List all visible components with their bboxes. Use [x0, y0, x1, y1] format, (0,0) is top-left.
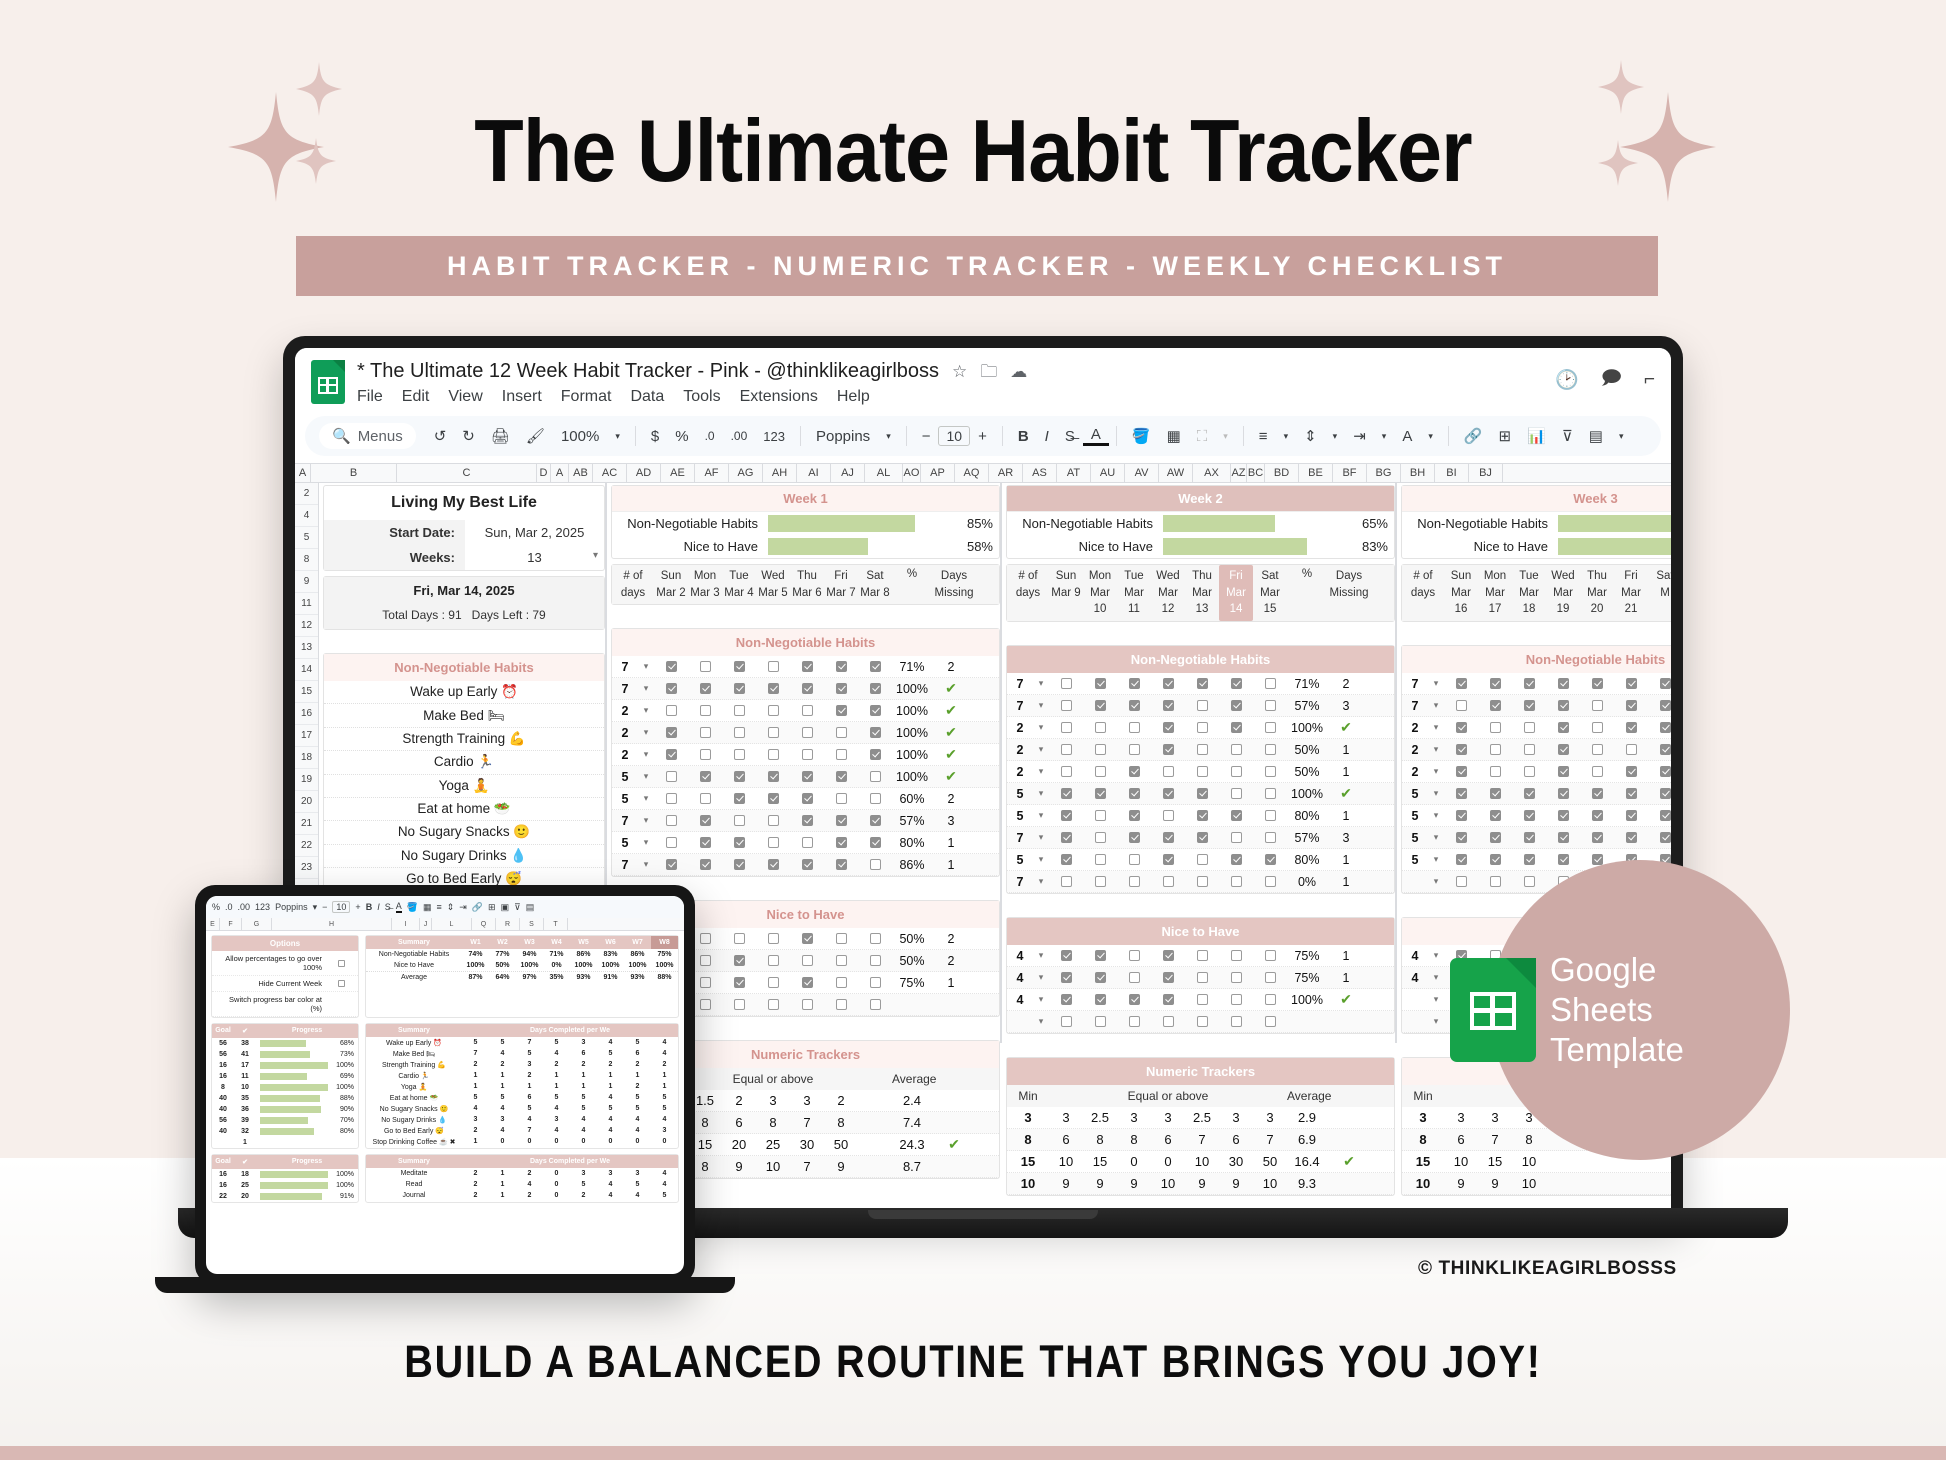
- habit-checkbox[interactable]: [1163, 854, 1174, 865]
- habit-checkbox[interactable]: [768, 815, 779, 826]
- chevron-down-icon[interactable]: ▾: [1033, 994, 1049, 1005]
- column-header-as[interactable]: AS: [1023, 464, 1057, 482]
- habit-checkbox[interactable]: [1061, 854, 1072, 865]
- numeric-value[interactable]: 9: [1219, 1176, 1253, 1191]
- goal-days-value[interactable]: 5: [1402, 853, 1428, 867]
- numeric-value[interactable]: 7: [1478, 1132, 1512, 1147]
- column-header-bi[interactable]: BI: [1435, 464, 1469, 482]
- present-icon[interactable]: ⌐: [1644, 369, 1655, 391]
- habit-checkbox[interactable]: [1197, 854, 1208, 865]
- row-header-14[interactable]: 14: [295, 659, 318, 681]
- habit-checkbox[interactable]: [1231, 854, 1242, 865]
- habit-checkbox[interactable]: [1129, 722, 1140, 733]
- functions-icon[interactable]: ▤: [526, 902, 535, 913]
- habit-checkbox[interactable]: [1095, 832, 1106, 843]
- habit-checkbox[interactable]: [1231, 876, 1242, 887]
- habit-checkbox[interactable]: [802, 793, 813, 804]
- column-header-d[interactable]: D: [537, 464, 551, 482]
- habit-checkbox[interactable]: [1095, 1016, 1106, 1027]
- column-header-bj[interactable]: BJ: [1469, 464, 1503, 482]
- menu-view[interactable]: View: [448, 388, 482, 406]
- habit-checkbox[interactable]: [1660, 810, 1671, 821]
- goal-days-value[interactable]: 7: [612, 682, 638, 696]
- habit-checkbox[interactable]: [1524, 678, 1535, 689]
- habit-checkbox[interactable]: [1197, 832, 1208, 843]
- habit-checkbox[interactable]: [700, 933, 711, 944]
- habit-checkbox[interactable]: [1163, 722, 1174, 733]
- numeric-value[interactable]: 8: [1117, 1132, 1151, 1147]
- habit-checkbox[interactable]: [1197, 810, 1208, 821]
- numeric-value[interactable]: 15: [1083, 1154, 1117, 1169]
- goal-days-value[interactable]: 7: [1007, 677, 1033, 691]
- habit-checkbox[interactable]: [836, 933, 847, 944]
- habit-checkbox[interactable]: [836, 793, 847, 804]
- habit-checkbox[interactable]: [870, 999, 881, 1010]
- option-checkbox[interactable]: [338, 960, 345, 967]
- text-wrap-icon[interactable]: ⇥: [459, 902, 467, 913]
- chevron-down-icon[interactable]: ▾: [1033, 722, 1049, 733]
- goal-days-value[interactable]: 5: [612, 770, 638, 784]
- comment-icon[interactable]: 🗩: [1601, 364, 1622, 396]
- habit-checkbox[interactable]: [870, 859, 881, 870]
- chevron-down-icon[interactable]: ▾: [1428, 1016, 1444, 1027]
- goal-days-value[interactable]: 5: [1007, 853, 1033, 867]
- habit-checkbox[interactable]: [1660, 744, 1671, 755]
- habit-checkbox[interactable]: [802, 815, 813, 826]
- numeric-value[interactable]: 10: [1049, 1154, 1083, 1169]
- habit-checkbox[interactable]: [1524, 788, 1535, 799]
- column-header-bh[interactable]: BH: [1401, 464, 1435, 482]
- decrease-decimal-icon[interactable]: .0: [697, 429, 723, 443]
- habit-checkbox[interactable]: [802, 749, 813, 760]
- habit-checkbox[interactable]: [870, 793, 881, 804]
- font-family-select[interactable]: Poppins: [808, 428, 878, 445]
- habit-checkbox[interactable]: [1490, 810, 1501, 821]
- chevron-down-icon[interactable]: ▾: [1033, 950, 1049, 961]
- goal-days-value[interactable]: 7: [1007, 875, 1033, 889]
- column-header-b[interactable]: B: [311, 464, 397, 482]
- vertical-align-icon[interactable]: ⇕: [447, 902, 455, 913]
- habit-checkbox[interactable]: [768, 933, 779, 944]
- chevron-down-icon[interactable]: ▾: [1611, 431, 1632, 442]
- numeric-value[interactable]: 9: [1478, 1176, 1512, 1191]
- habit-checkbox[interactable]: [666, 705, 677, 716]
- habit-checkbox[interactable]: [1163, 744, 1174, 755]
- font-size-input[interactable]: 10: [938, 426, 970, 446]
- bold-icon[interactable]: B: [366, 902, 373, 912]
- habit-checkbox[interactable]: [836, 859, 847, 870]
- row-header-2[interactable]: 2: [295, 483, 318, 505]
- habit-checkbox[interactable]: [666, 771, 677, 782]
- habit-checkbox[interactable]: [870, 749, 881, 760]
- chevron-down-icon[interactable]: ▾: [593, 550, 598, 561]
- habit-checkbox[interactable]: [700, 837, 711, 848]
- habit-checkbox[interactable]: [1129, 1016, 1140, 1027]
- chevron-down-icon[interactable]: ▾: [638, 683, 654, 694]
- habit-checkbox[interactable]: [1163, 972, 1174, 983]
- column-header-ao[interactable]: AO: [903, 464, 921, 482]
- habit-checkbox[interactable]: [836, 661, 847, 672]
- chevron-down-icon[interactable]: ▾: [1033, 832, 1049, 843]
- habit-checkbox[interactable]: [1163, 700, 1174, 711]
- column-header-ah[interactable]: AH: [763, 464, 797, 482]
- chevron-down-icon[interactable]: ▾: [607, 431, 628, 442]
- column-header-ai[interactable]: AI: [797, 464, 831, 482]
- habit-checkbox[interactable]: [1558, 722, 1569, 733]
- column-header-ap[interactable]: AP: [921, 464, 955, 482]
- habit-checkbox[interactable]: [734, 933, 745, 944]
- habit-checkbox[interactable]: [700, 727, 711, 738]
- column-header-a[interactable]: A: [295, 464, 311, 482]
- habit-checkbox[interactable]: [870, 977, 881, 988]
- habit-checkbox[interactable]: [700, 771, 711, 782]
- goal-days-value[interactable]: 5: [1402, 809, 1428, 823]
- habit-checkbox[interactable]: [802, 999, 813, 1010]
- habit-checkbox[interactable]: [1129, 678, 1140, 689]
- column-headers[interactable]: ABCDAABACADAEAFAGAHAIAJALAOAPAQARASATAUA…: [295, 463, 1671, 483]
- habit-checkbox[interactable]: [666, 661, 677, 672]
- numeric-value[interactable]: 30: [790, 1137, 824, 1152]
- habit-checkbox[interactable]: [1558, 788, 1569, 799]
- column-header-av[interactable]: AV: [1125, 464, 1159, 482]
- column-header-c[interactable]: C: [397, 464, 537, 482]
- habit-checkbox[interactable]: [1490, 854, 1501, 865]
- goal-days-value[interactable]: 7: [612, 814, 638, 828]
- insert-chart-icon[interactable]: ▣: [501, 902, 510, 913]
- habit-checkbox[interactable]: [1129, 832, 1140, 843]
- habit-checkbox[interactable]: [870, 661, 881, 672]
- font-family-select[interactable]: Poppins: [275, 902, 308, 912]
- paint-format-icon[interactable]: 🖌: [518, 427, 553, 445]
- tablet-column-header-h[interactable]: H: [272, 918, 392, 930]
- menu-help[interactable]: Help: [837, 388, 870, 406]
- habit-checkbox[interactable]: [802, 683, 813, 694]
- habit-checkbox[interactable]: [734, 815, 745, 826]
- habit-checkbox[interactable]: [870, 705, 881, 716]
- column-header-ac[interactable]: AC: [593, 464, 627, 482]
- goal-days-value[interactable]: 5: [1402, 787, 1428, 801]
- habit-checkbox[interactable]: [1660, 700, 1671, 711]
- habit-name[interactable]: Yoga 🧘: [324, 775, 604, 798]
- habit-checkbox[interactable]: [700, 793, 711, 804]
- habit-checkbox[interactable]: [1265, 810, 1276, 821]
- habit-checkbox[interactable]: [768, 999, 779, 1010]
- menu-data[interactable]: Data: [630, 388, 664, 406]
- chevron-down-icon[interactable]: ▾: [313, 902, 318, 913]
- habit-checkbox[interactable]: [1592, 810, 1603, 821]
- habit-checkbox[interactable]: [666, 859, 677, 870]
- borders-icon[interactable]: ▦: [1159, 427, 1189, 445]
- min-value[interactable]: 10: [1007, 1176, 1049, 1191]
- min-value[interactable]: 15: [1007, 1154, 1049, 1169]
- habit-checkbox[interactable]: [1163, 678, 1174, 689]
- chevron-down-icon[interactable]: ▾: [1033, 1016, 1049, 1027]
- habit-checkbox[interactable]: [1558, 700, 1569, 711]
- insert-chart-icon[interactable]: 📊: [1519, 427, 1554, 445]
- chevron-down-icon[interactable]: ▾: [1428, 722, 1444, 733]
- numeric-value[interactable]: 3: [1253, 1110, 1287, 1125]
- habit-checkbox[interactable]: [768, 793, 779, 804]
- habit-checkbox[interactable]: [1626, 832, 1637, 843]
- undo-icon[interactable]: ↺: [426, 427, 455, 445]
- numeric-value[interactable]: 8: [1083, 1132, 1117, 1147]
- numeric-value[interactable]: 8: [824, 1115, 858, 1130]
- habit-checkbox[interactable]: [768, 977, 779, 988]
- habit-checkbox[interactable]: [802, 859, 813, 870]
- habit-checkbox[interactable]: [836, 815, 847, 826]
- habit-checkbox[interactable]: [1197, 876, 1208, 887]
- habit-checkbox[interactable]: [768, 727, 779, 738]
- habit-checkbox[interactable]: [1558, 832, 1569, 843]
- habit-checkbox[interactable]: [1095, 788, 1106, 799]
- chevron-down-icon[interactable]: ▾: [1325, 431, 1346, 442]
- menu-file[interactable]: File: [357, 388, 383, 406]
- habit-name[interactable]: Eat at home 🥗: [324, 798, 604, 821]
- numeric-value[interactable]: 50: [1253, 1154, 1287, 1169]
- chevron-down-icon[interactable]: ▾: [1033, 788, 1049, 799]
- numeric-value[interactable]: 7: [790, 1159, 824, 1174]
- habit-checkbox[interactable]: [734, 859, 745, 870]
- habit-checkbox[interactable]: [1061, 744, 1072, 755]
- habit-checkbox[interactable]: [1558, 766, 1569, 777]
- habit-checkbox[interactable]: [666, 837, 677, 848]
- increase-decimal-icon[interactable]: .00: [238, 902, 251, 912]
- habit-checkbox[interactable]: [1660, 788, 1671, 799]
- habit-checkbox[interactable]: [666, 727, 677, 738]
- min-value[interactable]: 3: [1007, 1110, 1049, 1125]
- habit-checkbox[interactable]: [1197, 678, 1208, 689]
- habit-checkbox[interactable]: [1061, 972, 1072, 983]
- habit-checkbox[interactable]: [836, 977, 847, 988]
- goal-days-value[interactable]: 7: [1402, 677, 1428, 691]
- habit-checkbox[interactable]: [1061, 722, 1072, 733]
- habit-checkbox[interactable]: [1592, 744, 1603, 755]
- row-header-17[interactable]: 17: [295, 725, 318, 747]
- habit-checkbox[interactable]: [1558, 854, 1569, 865]
- habit-checkbox[interactable]: [1129, 810, 1140, 821]
- habit-checkbox[interactable]: [1524, 744, 1535, 755]
- habit-checkbox[interactable]: [1197, 766, 1208, 777]
- habit-checkbox[interactable]: [1061, 1016, 1072, 1027]
- habit-checkbox[interactable]: [1592, 854, 1603, 865]
- habit-checkbox[interactable]: [1163, 876, 1174, 887]
- chevron-down-icon[interactable]: ▾: [1374, 431, 1395, 442]
- habit-checkbox[interactable]: [1061, 810, 1072, 821]
- row-header-21[interactable]: 21: [295, 813, 318, 835]
- habit-checkbox[interactable]: [734, 749, 745, 760]
- weeks-select[interactable]: 13▾: [465, 545, 604, 570]
- habit-checkbox[interactable]: [734, 837, 745, 848]
- habit-checkbox[interactable]: [1524, 876, 1535, 887]
- row-header-13[interactable]: 13: [295, 637, 318, 659]
- percent-icon[interactable]: %: [667, 428, 696, 445]
- habit-checkbox[interactable]: [1660, 766, 1671, 777]
- habit-checkbox[interactable]: [700, 683, 711, 694]
- habit-checkbox[interactable]: [1265, 994, 1276, 1005]
- borders-icon[interactable]: ▦: [423, 902, 432, 913]
- column-header-au[interactable]: AU: [1091, 464, 1125, 482]
- habit-checkbox[interactable]: [1095, 744, 1106, 755]
- habit-checkbox[interactable]: [1456, 678, 1467, 689]
- menu-tools[interactable]: Tools: [683, 388, 720, 406]
- habit-checkbox[interactable]: [1197, 744, 1208, 755]
- goal-days-value[interactable]: 4: [1007, 949, 1033, 963]
- habit-checkbox[interactable]: [1231, 810, 1242, 821]
- habit-checkbox[interactable]: [734, 727, 745, 738]
- habit-checkbox[interactable]: [1061, 700, 1072, 711]
- habit-checkbox[interactable]: [1095, 678, 1106, 689]
- numeric-value[interactable]: 3: [1049, 1110, 1083, 1125]
- habit-checkbox[interactable]: [870, 933, 881, 944]
- habit-checkbox[interactable]: [1490, 766, 1501, 777]
- habit-checkbox[interactable]: [1061, 950, 1072, 961]
- habit-checkbox[interactable]: [734, 705, 745, 716]
- chevron-down-icon[interactable]: ▾: [1215, 431, 1236, 442]
- habit-name[interactable]: Make Bed 🛏: [324, 704, 604, 727]
- horizontal-align-icon[interactable]: ≡: [1251, 428, 1276, 445]
- habit-checkbox[interactable]: [1095, 950, 1106, 961]
- habit-checkbox[interactable]: [700, 749, 711, 760]
- habit-checkbox[interactable]: [1265, 950, 1276, 961]
- more-formats-icon[interactable]: 123: [755, 429, 793, 444]
- habit-checkbox[interactable]: [1231, 832, 1242, 843]
- habit-checkbox[interactable]: [802, 705, 813, 716]
- goal-days-value[interactable]: 2: [1007, 743, 1033, 757]
- text-color-icon[interactable]: A: [1083, 426, 1109, 446]
- numeric-value[interactable]: 7: [790, 1115, 824, 1130]
- habit-checkbox[interactable]: [1061, 678, 1072, 689]
- habit-checkbox[interactable]: [768, 749, 779, 760]
- goal-days-value[interactable]: 7: [1402, 699, 1428, 713]
- numeric-value[interactable]: 3: [1219, 1110, 1253, 1125]
- chevron-down-icon[interactable]: ▾: [1428, 832, 1444, 843]
- numeric-value[interactable]: 10: [1185, 1154, 1219, 1169]
- habit-checkbox[interactable]: [1660, 832, 1671, 843]
- habit-checkbox[interactable]: [700, 859, 711, 870]
- habit-checkbox[interactable]: [1095, 700, 1106, 711]
- goal-days-value[interactable]: 7: [612, 660, 638, 674]
- chevron-down-icon[interactable]: ▾: [1428, 876, 1444, 887]
- habit-checkbox[interactable]: [836, 771, 847, 782]
- menu-insert[interactable]: Insert: [502, 388, 542, 406]
- strikethrough-icon[interactable]: S̶: [1057, 428, 1083, 445]
- numeric-value[interactable]: 9: [1444, 1176, 1478, 1191]
- numeric-value[interactable]: 15: [1478, 1154, 1512, 1169]
- print-icon[interactable]: 🖨: [483, 427, 518, 445]
- numeric-value[interactable]: 9: [1185, 1176, 1219, 1191]
- habit-checkbox[interactable]: [768, 837, 779, 848]
- increase-font-size-button[interactable]: +: [970, 428, 995, 445]
- habit-checkbox[interactable]: [1129, 788, 1140, 799]
- habit-checkbox[interactable]: [734, 771, 745, 782]
- numeric-value[interactable]: 9: [1117, 1176, 1151, 1191]
- merge-cells-icon[interactable]: ⛶: [1189, 428, 1216, 445]
- chevron-down-icon[interactable]: ▾: [638, 661, 654, 672]
- goal-days-value[interactable]: 5: [1007, 809, 1033, 823]
- numeric-value[interactable]: 25: [756, 1137, 790, 1152]
- insert-comment-icon[interactable]: ⊞: [488, 902, 496, 913]
- habit-checkbox[interactable]: [700, 661, 711, 672]
- habit-checkbox[interactable]: [1456, 788, 1467, 799]
- tablet-column-header-j[interactable]: J: [420, 918, 432, 930]
- insert-comment-icon[interactable]: ⊞: [1491, 427, 1520, 445]
- habit-checkbox[interactable]: [1524, 810, 1535, 821]
- chevron-down-icon[interactable]: ▾: [1033, 744, 1049, 755]
- text-color-icon[interactable]: A: [396, 901, 402, 913]
- row-header-16[interactable]: 16: [295, 703, 318, 725]
- goal-days-value[interactable]: 2: [1007, 765, 1033, 779]
- habit-checkbox[interactable]: [1456, 700, 1467, 711]
- goal-days-value[interactable]: 5: [612, 792, 638, 806]
- chevron-down-icon[interactable]: ▾: [1428, 766, 1444, 777]
- habit-checkbox[interactable]: [1456, 722, 1467, 733]
- habit-checkbox[interactable]: [1163, 1016, 1174, 1027]
- habit-checkbox[interactable]: [1592, 766, 1603, 777]
- numeric-value[interactable]: 9: [824, 1159, 858, 1174]
- chevron-down-icon[interactable]: ▾: [1428, 854, 1444, 865]
- goal-days-value[interactable]: 5: [1007, 787, 1033, 801]
- habit-checkbox[interactable]: [1163, 832, 1174, 843]
- numeric-value[interactable]: 6: [1151, 1132, 1185, 1147]
- habit-checkbox[interactable]: [802, 771, 813, 782]
- habit-checkbox[interactable]: [1231, 744, 1242, 755]
- numeric-value[interactable]: 3: [1444, 1110, 1478, 1125]
- chevron-down-icon[interactable]: ▾: [638, 837, 654, 848]
- chevron-down-icon[interactable]: ▾: [638, 815, 654, 826]
- habit-checkbox[interactable]: [1626, 744, 1637, 755]
- column-header-bg[interactable]: BG: [1367, 464, 1401, 482]
- habit-name[interactable]: No Sugary Drinks 💧: [324, 845, 604, 868]
- habit-checkbox[interactable]: [1490, 788, 1501, 799]
- chevron-down-icon[interactable]: ▾: [1428, 972, 1444, 983]
- column-header-at[interactable]: AT: [1057, 464, 1091, 482]
- tablet-column-header-r[interactable]: R: [496, 918, 520, 930]
- goal-days-value[interactable]: 5: [612, 836, 638, 850]
- goal-days-value[interactable]: 4: [1402, 949, 1428, 963]
- chevron-down-icon[interactable]: ▾: [1033, 678, 1049, 689]
- numeric-value[interactable]: 10: [1512, 1176, 1546, 1191]
- habit-checkbox[interactable]: [1231, 788, 1242, 799]
- numeric-value[interactable]: 7: [1253, 1132, 1287, 1147]
- habit-checkbox[interactable]: [1197, 950, 1208, 961]
- numeric-value[interactable]: 2: [824, 1093, 858, 1108]
- numeric-value[interactable]: 0: [1151, 1154, 1185, 1169]
- vertical-align-icon[interactable]: ⇕: [1296, 427, 1325, 445]
- goal-days-value[interactable]: 2: [612, 748, 638, 762]
- goal-days-value[interactable]: 4: [1402, 971, 1428, 985]
- numeric-value[interactable]: 6: [1049, 1132, 1083, 1147]
- chevron-down-icon[interactable]: ▾: [1428, 744, 1444, 755]
- row-header-22[interactable]: 22: [295, 835, 318, 857]
- habit-checkbox[interactable]: [1265, 1016, 1276, 1027]
- chevron-down-icon[interactable]: ▾: [1428, 950, 1444, 961]
- habit-checkbox[interactable]: [1626, 766, 1637, 777]
- chevron-down-icon[interactable]: ▾: [1428, 994, 1444, 1005]
- numeric-value[interactable]: 3: [756, 1093, 790, 1108]
- habit-name[interactable]: Cardio 🏃: [324, 751, 604, 774]
- tablet-column-headers[interactable]: EFGHIJLQRST: [206, 918, 684, 931]
- habit-checkbox[interactable]: [1265, 972, 1276, 983]
- numeric-value[interactable]: 10: [1253, 1176, 1287, 1191]
- habit-checkbox[interactable]: [1061, 876, 1072, 887]
- goal-days-value[interactable]: 7: [1007, 831, 1033, 845]
- chevron-down-icon[interactable]: ▾: [638, 793, 654, 804]
- habit-checkbox[interactable]: [1163, 950, 1174, 961]
- filter-icon[interactable]: ⊽: [1554, 427, 1581, 445]
- habit-checkbox[interactable]: [1524, 766, 1535, 777]
- min-value[interactable]: 10: [1402, 1176, 1444, 1191]
- habit-checkbox[interactable]: [836, 749, 847, 760]
